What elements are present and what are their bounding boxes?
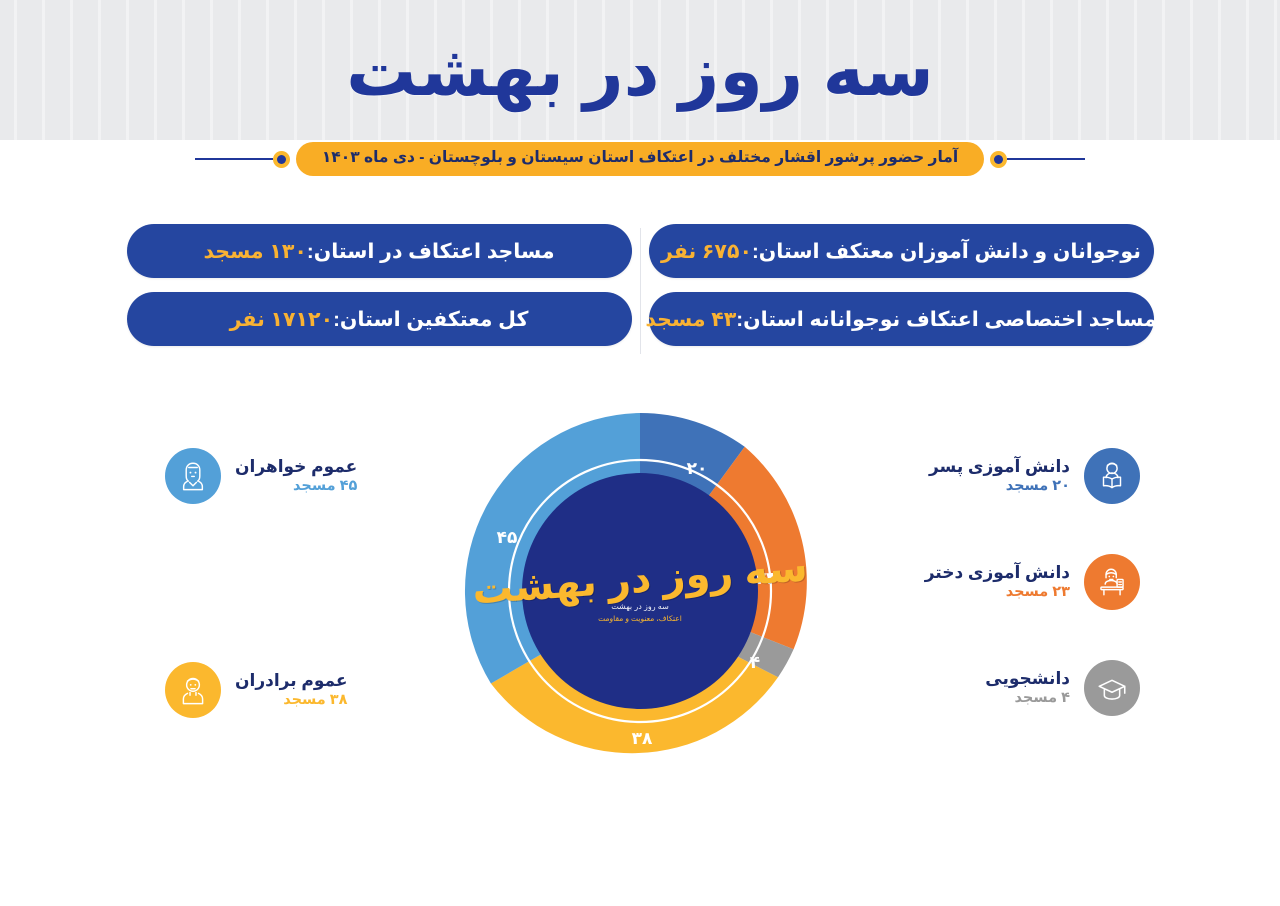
legend-count: ۲۳ مسجد	[925, 584, 1070, 601]
stat-pill-youth-participants: نوجوانان و دانش آموزان معتکف استان: ۶۷۵۰…	[649, 224, 1154, 278]
legend-left: عموم خواهران ۴۵ مسجد	[165, 396, 390, 718]
legend-count: ۴ مسجد	[985, 690, 1070, 707]
man-icon	[165, 662, 221, 718]
legend-text: عموم خواهران ۴۵ مسجد	[235, 457, 357, 495]
stat-value: ۴۳ مسجد	[645, 307, 736, 332]
legend-text: دانش آموزی پسر ۲۰ مسجد	[929, 457, 1070, 495]
stat-pill-participants-total: کل معتکفین استان: ۱۷۱۲۰ نفر	[127, 292, 632, 346]
legend-title: دانشجویی	[985, 669, 1070, 689]
stat-column-right: مساجد اعتکاف در استان: ۱۳۰ مسجد کل معتکف…	[127, 224, 632, 346]
slice-label-girls: ۲۳	[756, 569, 777, 588]
ornament-line-right	[1007, 158, 1085, 160]
stat-value: ۱۷۱۲۰ نفر	[230, 307, 333, 332]
stat-pill-youth-mosques: مساجد اختصاصی اعتکاف نوجوانانه استان: ۴۳…	[649, 292, 1154, 346]
slice-label-boys: ۲۰	[687, 459, 708, 478]
center-disc	[522, 473, 758, 709]
page-title: سه روز در بهشت	[0, 36, 1280, 106]
ornament-left	[195, 151, 290, 168]
girl-student-desk-icon	[1084, 554, 1140, 610]
subtitle-row: آمار حضور پرشور اقشار مختلف در اعتکاف اس…	[0, 142, 1280, 176]
legend-text: دانشجویی ۴ مسجد	[985, 669, 1070, 707]
legend-title: عموم خواهران	[235, 457, 357, 477]
ornament-dot-right	[990, 151, 1007, 168]
stat-value: ۱۳۰ مسجد	[203, 239, 306, 264]
slice-label-sisters: ۴۵	[497, 528, 518, 547]
ornament-line-left	[195, 158, 273, 160]
stat-label: کل معتکفین استان:	[333, 307, 528, 332]
legend-title: دانش آموزی دختر	[925, 563, 1070, 583]
stat-pill-mosques-total: مساجد اعتکاف در استان: ۱۳۰ مسجد	[127, 224, 632, 278]
legend-title: عموم برادران	[235, 671, 347, 691]
stat-pill-group: مساجد اعتکاف در استان: ۱۳۰ مسجد کل معتکف…	[0, 224, 1280, 360]
legend-count: ۳۸ مسجد	[235, 692, 347, 709]
stat-value: ۶۷۵۰ نفر	[661, 239, 752, 264]
slice-label-brothers: ۳۸	[632, 729, 653, 748]
boy-reading-book-icon	[1084, 448, 1140, 504]
stat-divider	[640, 228, 641, 354]
stat-label: نوجوانان و دانش آموزان معتکف استان:	[752, 239, 1141, 264]
stat-column-left: نوجوانان و دانش آموزان معتکف استان: ۶۷۵۰…	[649, 224, 1154, 346]
slice-label-university: ۴	[750, 653, 760, 672]
legend-text: دانش آموزی دختر ۲۳ مسجد	[925, 563, 1070, 601]
legend-item-schoolboys[interactable]: دانش آموزی پسر ۲۰ مسجد	[929, 448, 1140, 504]
infographic-page: سه روز در بهشت آمار حضور پرشور اقشار مخت…	[0, 0, 1280, 906]
legend-count: ۴۵ مسجد	[235, 478, 357, 495]
subtitle-pill: آمار حضور پرشور اقشار مختلف در اعتکاف اس…	[296, 142, 984, 176]
legend-item-schoolgirls[interactable]: دانش آموزی دختر ۲۳ مسجد	[925, 554, 1140, 610]
ornament-right	[990, 151, 1085, 168]
chart-area: عموم خواهران ۴۵ مسجد	[0, 396, 1280, 796]
ornament-dot-left	[273, 151, 290, 168]
legend-item-university[interactable]: دانشجویی ۴ مسجد	[985, 660, 1140, 716]
donut-chart: ۲۰ ۲۳ ۴ ۳۸ ۴۵ سه روز در بهشت سه روز در ب…	[445, 396, 835, 786]
legend-text: عموم برادران ۳۸ مسجد	[235, 671, 347, 709]
legend-item-brothers[interactable]: عموم برادران ۳۸ مسجد	[165, 662, 347, 718]
stat-label: مساجد اختصاصی اعتکاف نوجوانانه استان:	[736, 307, 1156, 332]
woman-hijab-icon	[165, 448, 221, 504]
graduation-cap-icon	[1084, 660, 1140, 716]
legend-title: دانش آموزی پسر	[929, 457, 1070, 477]
legend-item-sisters[interactable]: عموم خواهران ۴۵ مسجد	[165, 448, 357, 504]
donut-svg: ۲۰ ۲۳ ۴ ۳۸ ۴۵	[445, 396, 835, 786]
legend-right: دانش آموزی پسر ۲۰ مسجد	[920, 396, 1140, 716]
stat-label: مساجد اعتکاف در استان:	[307, 239, 555, 264]
legend-count: ۲۰ مسجد	[929, 478, 1070, 495]
